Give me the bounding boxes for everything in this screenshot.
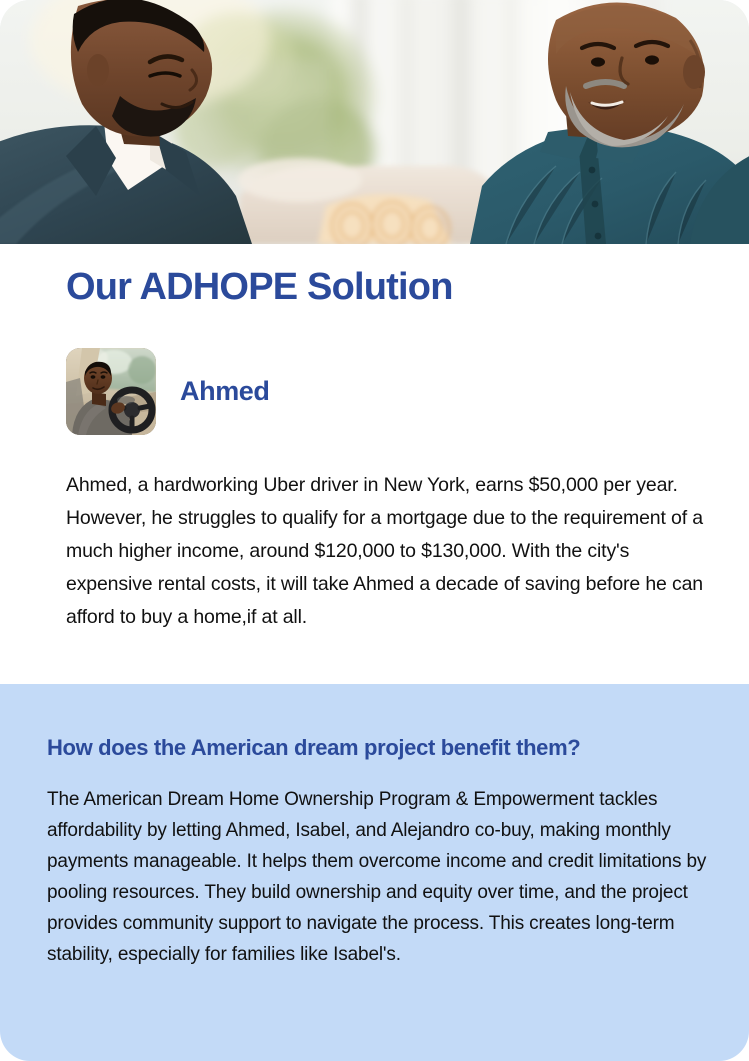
person-name: Ahmed (180, 376, 270, 407)
ahmed-story-text: Ahmed, a hardworking Uber driver in New … (66, 469, 705, 634)
benefit-body-text: The American Dream Home Ownership Progra… (47, 784, 707, 970)
benefit-section: How does the American dream project bene… (0, 684, 749, 1061)
story-card: Our ADHOPE Solution (0, 0, 749, 1061)
solution-section: Our ADHOPE Solution (0, 244, 749, 684)
ahmed-avatar-illustration (66, 348, 156, 435)
hero-photo (0, 0, 749, 244)
benefit-heading: How does the American dream project bene… (47, 735, 709, 761)
page-title: Our ADHOPE Solution (66, 266, 749, 310)
ahmed-avatar (66, 348, 156, 435)
hero-photo-illustration (0, 0, 749, 244)
person-header: Ahmed (66, 348, 749, 435)
